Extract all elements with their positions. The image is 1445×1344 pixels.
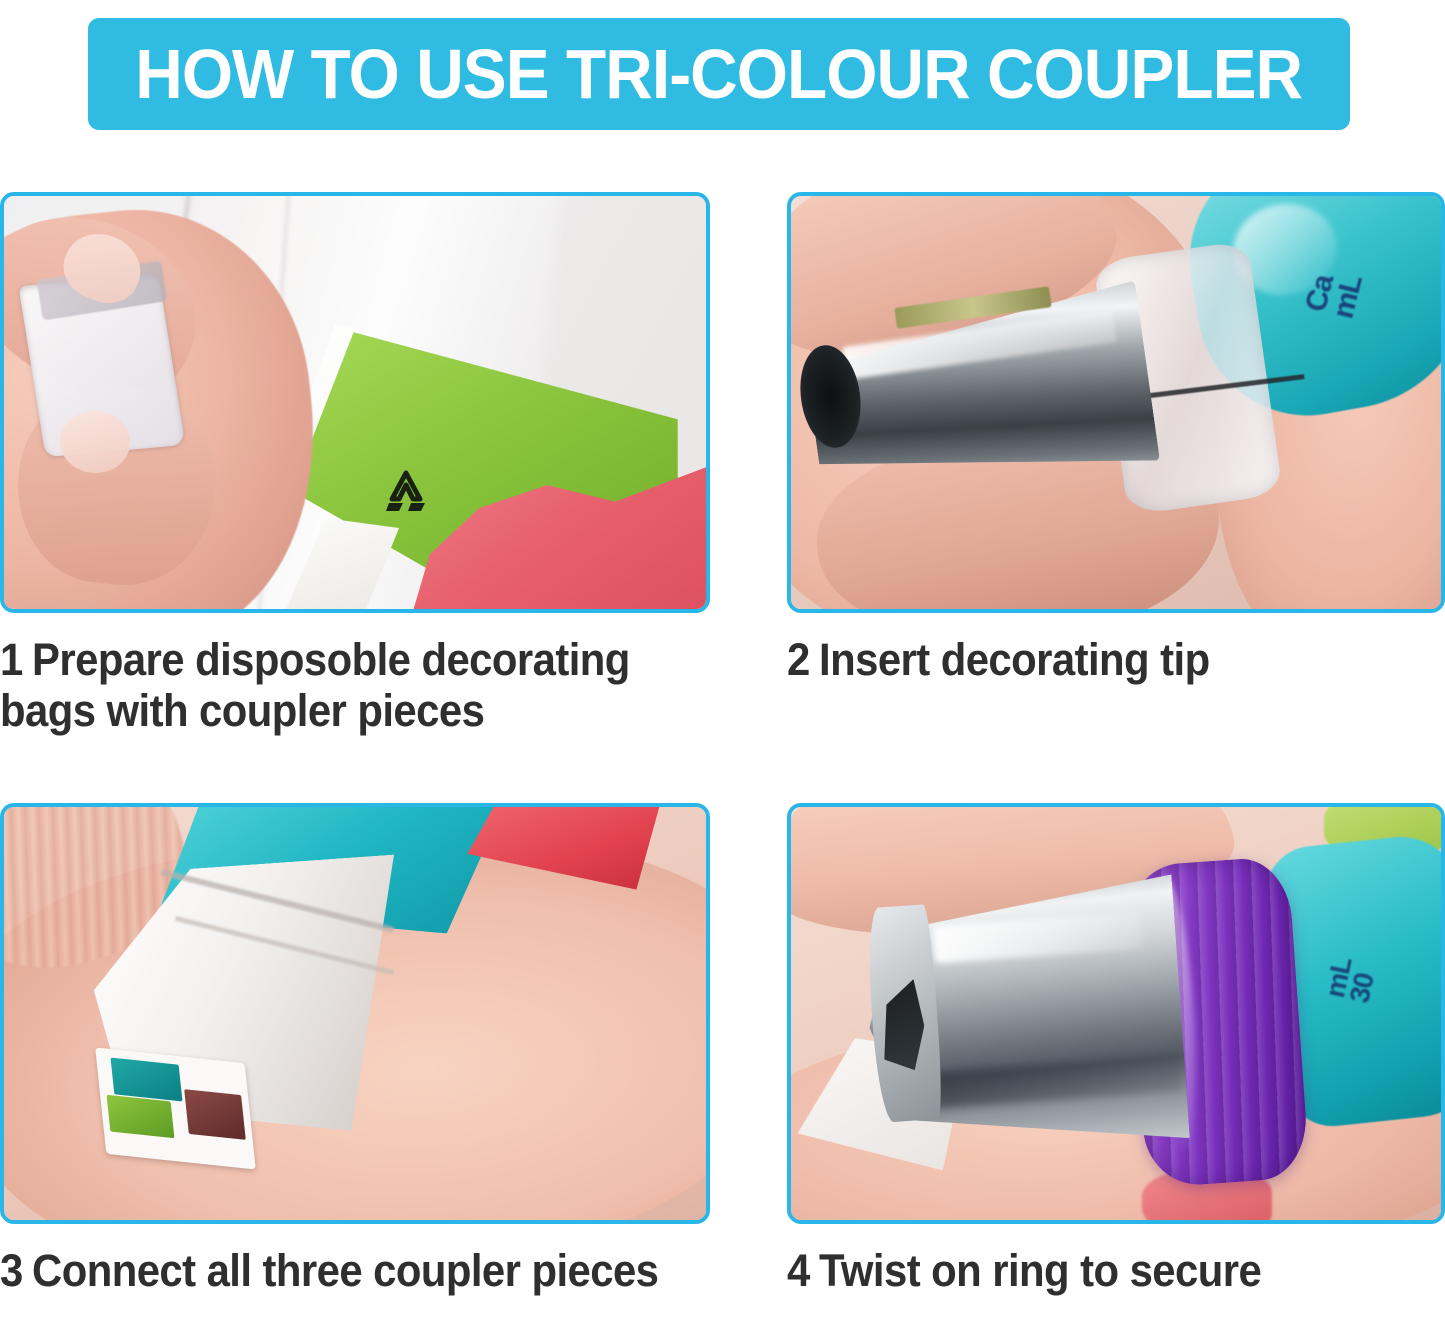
step-2-caption-text: Insert decorating tip (819, 634, 1210, 685)
step-1-photo (0, 192, 710, 613)
step-4-caption-text: Twist on ring to secure (819, 1245, 1261, 1296)
step-1-caption-text: Prepare disposoble decorating bags with … (0, 634, 630, 736)
chamber-teal-icing (110, 1058, 182, 1102)
recycling-symbol-icon (380, 469, 432, 517)
step-3-caption: 3Connect all three coupler pieces (0, 1245, 660, 1296)
step-4-photo: mL 30 (787, 803, 1445, 1224)
step-1-caption: 1Prepare disposoble decorating bags with… (0, 634, 660, 737)
step-3-photo (0, 803, 710, 1224)
step-card-4: mL 30 4Twist on ring to secure (787, 803, 1445, 1296)
step-card-1: 1Prepare disposoble decorating bags with… (0, 192, 710, 737)
step-3-caption-text: Connect all three coupler pieces (32, 1245, 658, 1296)
step-2-number: 2 (787, 634, 810, 685)
chamber-red-icing (184, 1089, 246, 1140)
step-card-3: 3Connect all three coupler pieces (0, 803, 710, 1296)
step-2-photo: Ca mL (787, 192, 1445, 613)
step-3-number: 3 (0, 1245, 23, 1296)
title-banner: HOW TO USE TRI-COLOUR COUPLER (88, 18, 1350, 130)
step-card-2: Ca mL 2Insert decorating tip (787, 192, 1445, 685)
step-2-caption: 2Insert decorating tip (787, 634, 1399, 685)
step-4-caption: 4Twist on ring to secure (787, 1245, 1399, 1296)
page-title: HOW TO USE TRI-COLOUR COUPLER (136, 39, 1303, 109)
step-1-number: 1 (0, 634, 23, 685)
chamber-green-icing (107, 1095, 175, 1139)
step-4-number: 4 (787, 1245, 810, 1296)
